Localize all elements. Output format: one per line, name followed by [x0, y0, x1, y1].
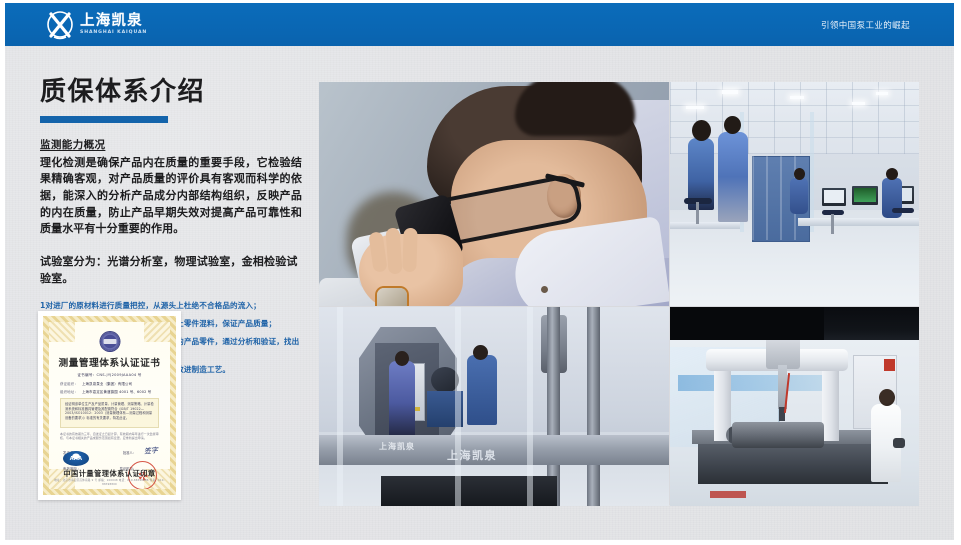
header-slogan: 引领中国泵工业的崛起: [821, 3, 910, 46]
lab-stool: [892, 208, 914, 213]
certificate-border: 测量管理体系认证证书 证书编号：CNS-JYJ2009JAAA04 号 获证组织…: [43, 316, 176, 495]
aaa-rating-badge: AAA: [63, 451, 89, 466]
national-emblem-icon: [100, 332, 119, 351]
field-value: 上海市嘉定区黄渡镇园 4001 号、6002 号: [82, 389, 151, 394]
brand-name-en: SHANGHAI KAIQUAN: [80, 31, 147, 36]
field-value: 上海凯泉泵业（集团）有限公司: [82, 381, 132, 386]
technician-head: [692, 120, 711, 141]
photo-microscope-operator: 技术人员使用显微镜进行金相检测: [319, 82, 669, 306]
wristwatch: [377, 288, 407, 306]
monitor-screen: [824, 190, 844, 203]
page-margin-bottom: [0, 540, 961, 545]
certificate-field-row: 组织地址： 上海市嘉定区黄渡镇园 4001 号、6002 号: [60, 389, 159, 394]
header-bar: 上海凯泉 SHANGHAI KAIQUAN 引领中国泵工业的崛起: [5, 3, 954, 46]
person-finger: [402, 228, 418, 272]
certificate-field-row: 获证组织： 上海凯泉泵业（集团）有限公司: [60, 381, 159, 386]
certificate-approver-label: 批准人：: [123, 450, 136, 455]
brand-logo-text: 上海凯泉 SHANGHAI KAIQUAN: [80, 14, 147, 36]
certificate-corner-ornament: [144, 322, 170, 342]
certificate-fine-print: 本证书的有效期为三年，自发证之日起计算，有效期内每年进行一次监督审核，与本证书相…: [60, 432, 159, 441]
equipment-brand-plate: [710, 491, 746, 498]
glass-frame-mullion: [337, 307, 343, 506]
technician-head: [395, 351, 409, 366]
certificate-image: 测量管理体系认证证书 证书编号：CNS-JYJ2009JAAA04 号 获证组织…: [38, 311, 181, 500]
inspector-handheld-controller: [893, 438, 905, 448]
wall-signage-band: [678, 375, 838, 391]
page-margin-left: [0, 0, 5, 545]
stool-post: [831, 214, 834, 234]
person-hair-highlight: [515, 82, 635, 136]
cabinet-indicator: [884, 359, 895, 371]
kaiquan-monogram-icon: [45, 11, 75, 40]
certificate-code: 证书编号：CNS-JYJ2009JAAA04 号: [49, 373, 170, 378]
technician-standing: [467, 355, 497, 425]
stool-post: [696, 202, 699, 224]
brand-logo[interactable]: 上海凯泉 SHANGHAI KAIQUAN: [45, 10, 147, 40]
shirt-button: [541, 286, 548, 293]
certificate-footer: 中国计量管理体系认证印章: [49, 469, 170, 479]
lab-bench: [798, 218, 919, 226]
monitor-screen-spectrum: [854, 188, 876, 202]
kaiquan-logo-on-glass: 上海凯泉: [379, 441, 415, 452]
ceiling-light: [876, 92, 888, 95]
glass-partition: [810, 112, 814, 232]
ceiling-light: [790, 96, 804, 99]
certificate-statement: 经证明该单位生产及产品质量、计量管理、测量策略、计量检测系统和标准器具管理及其配…: [60, 398, 159, 428]
technician-operating: [389, 361, 415, 437]
slide-root: 上海凯泉 SHANGHAI KAIQUAN 引领中国泵工业的崛起 质保体系介绍 …: [0, 0, 961, 545]
page-title: 质保体系介绍: [40, 78, 302, 107]
cmm-bridge-leg: [822, 359, 839, 441]
intro-paragraph: 理化检测是确保产品内在质量的重要手段，它检验结果精确客观，对产品质量的评价具有客…: [40, 155, 302, 239]
glass-frame-mullion: [455, 307, 461, 506]
ceiling-light: [722, 90, 738, 94]
field-key: 获证组织：: [60, 381, 78, 386]
technician-head: [724, 116, 741, 134]
brand-name-cn: 上海凯泉: [80, 14, 147, 29]
field-key: 组织地址：: [60, 389, 78, 394]
ceiling-light: [686, 106, 704, 109]
photo-collage: 技术人员使用显微镜进行金相检测: [319, 82, 918, 505]
lab-technician-standing: [718, 132, 748, 222]
lab-bench: [670, 222, 740, 229]
fixture-clamp: [732, 422, 824, 448]
title-underline-rule: [40, 116, 168, 123]
technician-head: [886, 168, 898, 180]
technician-head: [473, 345, 488, 360]
section-subheading: 监测能力概况: [40, 137, 302, 152]
certificate-footer-address: 地址：北京市海淀区首体南路 9 号 邮编：100048 电话：010-88398…: [49, 479, 170, 487]
laboratory-list-line: 试验室分为：光谱分析室，物理试验室，金相检验试验室。: [40, 254, 302, 287]
certificate-handwritten-signature: 签字: [144, 445, 159, 456]
page-margin-right: [954, 0, 961, 545]
glass-frame-mullion: [527, 307, 533, 506]
photo-laboratory-overview: 光谱分析实验室全景，检测人员在工位作业: [670, 82, 919, 306]
load-frame-column: [587, 307, 600, 506]
lab-technician-seated: [790, 178, 808, 214]
ceiling-light: [852, 102, 865, 105]
certificate-fields: 获证组织： 上海凯泉泵业（集团）有限公司 组织地址： 上海市嘉定区黄渡镇园 40…: [60, 381, 159, 397]
technician-head: [794, 168, 805, 180]
photo-material-testing-machine: 上海凯泉 上海凯泉 物理试验室万能材料试验机，玻璃隔断上印有上海凯泉标识: [319, 307, 669, 506]
photo-top-dark-band: [670, 307, 824, 340]
inspector-head: [879, 389, 895, 406]
certificate-corner-ornament: [49, 322, 75, 342]
certificate-title: 测量管理体系认证证书: [49, 355, 170, 369]
photo-cmm-coordinate-measuring: 三坐标测量机对泵轴零件进行尺寸检测: [670, 307, 919, 506]
